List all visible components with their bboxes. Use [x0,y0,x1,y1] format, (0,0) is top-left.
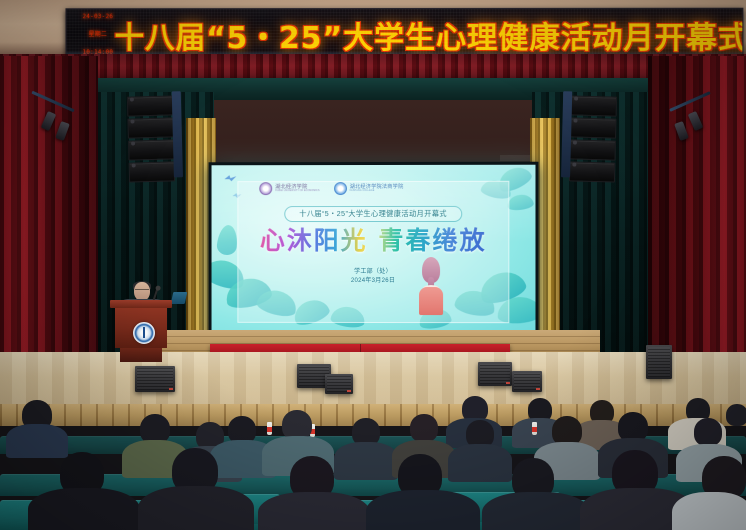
girl-dress [419,287,443,315]
audience-head [410,414,438,442]
line-array-speaker-left [127,95,175,184]
podium-monitor [171,292,188,304]
foliage-decoration [216,224,239,256]
line-array-speaker-right [569,95,617,184]
audience-shoulders [672,492,746,530]
speaker-module [127,95,174,116]
slide-footer: 学工部（处） 2024年3月26日 [351,268,395,286]
slide-logo-row: 湖北经济学院 HUBEI UNIVERSITY OF ECONOMICS 湖北经… [259,182,403,195]
projection-screen: 湖北经济学院 HUBEI UNIVERSITY OF ECONOMICS 湖北经… [209,162,539,341]
blue-seal-icon [334,182,347,195]
red-curtain-left [0,56,98,401]
podium-top [110,300,172,308]
slide-subtitle: 十八届“5・25”大学生心理健康活动月开幕式 [284,206,462,222]
swallow-bird-icon [223,174,237,183]
water-bottle [267,422,272,435]
podium-base [120,348,162,362]
speaker-module [129,161,176,182]
audience-head [694,418,722,446]
foliage-decoration [506,193,534,212]
slide-organizer: 学工部（处） [351,268,395,277]
audience-shoulders [6,424,68,458]
glasses-icon [135,289,149,293]
floor-speaker-tower [646,345,672,379]
projected-slide: 湖北经济学院 HUBEI UNIVERSITY OF ECONOMICS 湖北经… [212,165,536,338]
university-crest-icon [133,322,155,344]
logo-en-name: FASHANG COLLEGE [350,190,404,192]
audience-shoulders [334,442,398,480]
speaker-module [569,161,616,182]
girl-illustration [416,257,446,315]
audience-shoulders [138,486,254,530]
slide-date: 2024年3月26日 [351,277,395,286]
speaker-module [570,117,617,138]
speaker-module [128,139,175,160]
led-date: 24-03-26 [82,14,113,20]
speaking-podium [110,300,172,362]
speaker-module [127,117,174,138]
purple-seal-icon [259,182,272,195]
audience-shoulders [28,488,140,530]
stage-monitor-speaker [512,371,542,392]
audience-area [0,396,746,530]
speaker-module [571,95,618,116]
speaker-module [569,139,616,160]
stage-monitor-speaker [478,362,512,386]
audience-head [726,404,746,426]
logo-item: 湖北经济学院 HUBEI UNIVERSITY OF ECONOMICS [259,182,319,195]
audience-shoulders [448,444,512,482]
logo-item: 湖北经济学院法商学院 FASHANG COLLEGE [334,182,404,195]
podium-body [115,308,167,348]
water-bottle [532,422,537,435]
stage-monitor-speaker [135,366,175,392]
logo-en-name: HUBEI UNIVERSITY OF ECONOMICS [275,190,319,192]
slide-slogan: 心沐阳光 青春绻放 [260,221,487,257]
audience-shoulders [258,492,370,530]
stage-monitor-speaker [325,374,353,394]
auditorium-photo: 24-03-26 星期二 10:14:00 十八届“5・25”大学生心理健康活动… [0,0,746,530]
led-weekday: 星期二 [89,32,108,38]
audience-shoulders [482,492,590,530]
audience-shoulders [366,490,480,530]
